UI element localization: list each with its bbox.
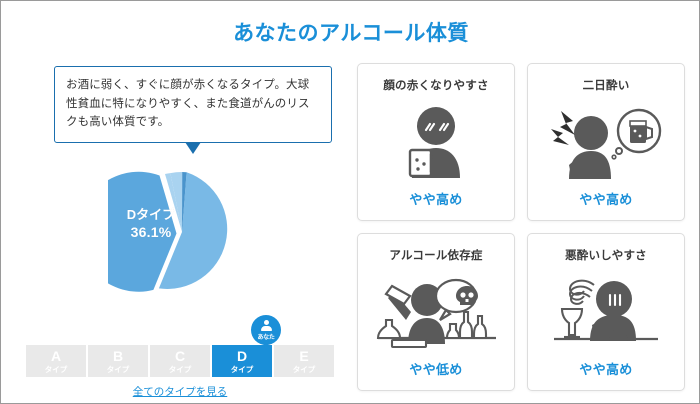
type-cell-d-suffix: タイプ	[231, 366, 254, 374]
risk-card-alcohol-dependence[interactable]: アルコール依存症	[357, 233, 515, 391]
risk-card-title: 二日酔い	[583, 77, 630, 93]
type-distribution-pie-chart: Dタイプ 36.1%	[19, 163, 341, 301]
callout-arrow-icon	[185, 142, 201, 154]
risk-card-value: やや高め	[579, 359, 632, 390]
bad-drunk-nausea-icon	[528, 263, 684, 359]
type-cell-b[interactable]: B タイプ	[88, 345, 148, 377]
flushed-face-with-glass-icon	[358, 93, 514, 189]
type-scale: A タイプ B タイプ C タイプ D タイプ E タイプ	[19, 331, 341, 377]
risk-card-bad-drunk[interactable]: 悪酔いしやすさ	[527, 233, 685, 391]
risk-card-title: アルコール依存症	[389, 247, 482, 263]
type-cell-b-suffix: タイプ	[107, 366, 130, 374]
type-cell-e-letter: E	[299, 349, 308, 363]
all-types-link[interactable]: 全てのタイプを見る	[19, 384, 341, 399]
risk-card-value: やや高め	[579, 189, 632, 220]
type-cell-a-suffix: タイプ	[45, 366, 68, 374]
type-cell-a-letter: A	[51, 349, 61, 363]
risk-card-title: 顔の赤くなりやすさ	[383, 77, 488, 93]
type-cell-e-suffix: タイプ	[293, 366, 316, 374]
risk-card-facial-flushing[interactable]: 顔の赤くなりやすさ	[357, 63, 515, 221]
risk-card-hangover[interactable]: 二日酔い	[527, 63, 685, 221]
description-callout: お酒に弱く、すぐに顔が赤くなるタイプ。大球性貧血に特になりやすく、また食道がんの…	[54, 66, 332, 143]
alcohol-dependence-skull-icon	[358, 263, 514, 359]
page-title: あなたのアルコール体質	[1, 17, 700, 47]
type-cell-b-letter: B	[113, 349, 123, 363]
alcohol-constitution-result-page: あなたのアルコール体質 お酒に弱く、すぐに顔が赤くなるタイプ。大球性貧血に特にな…	[0, 0, 700, 404]
type-cell-a[interactable]: A タイプ	[26, 345, 86, 377]
left-column: お酒に弱く、すぐに顔が赤くなるタイプ。大球性貧血に特になりやすく、また食道がんの…	[19, 57, 341, 389]
type-cell-e[interactable]: E タイプ	[274, 345, 334, 377]
person-head-icon	[264, 320, 269, 325]
risk-card-value: やや高め	[409, 189, 462, 220]
type-cell-c-letter: C	[175, 349, 185, 363]
type-cell-d-letter: D	[237, 349, 247, 363]
pie-svg	[108, 163, 252, 301]
hangover-headache-icon	[528, 93, 684, 189]
risk-cards-grid: 顔の赤くなりやすさ	[357, 63, 685, 391]
risk-card-value: やや低め	[409, 359, 462, 390]
person-body-icon	[261, 326, 272, 331]
you-marker-label: あなた	[251, 332, 281, 341]
description-text: お酒に弱く、すぐに顔が赤くなるタイプ。大球性貧血に特になりやすく、また食道がんの…	[66, 79, 310, 128]
type-cell-c-suffix: タイプ	[169, 366, 192, 374]
type-cell-c[interactable]: C タイプ	[150, 345, 210, 377]
you-marker-pin: あなた	[251, 315, 281, 351]
risk-card-title: 悪酔いしやすさ	[565, 247, 647, 263]
type-scale-row: A タイプ B タイプ C タイプ D タイプ E タイプ	[26, 345, 334, 377]
